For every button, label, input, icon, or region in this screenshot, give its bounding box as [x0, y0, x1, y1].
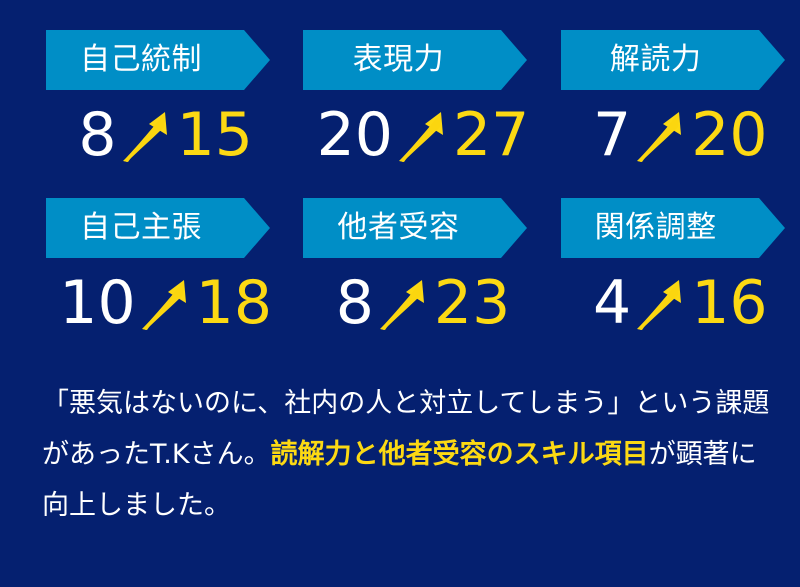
score-after: 23: [434, 273, 510, 333]
score-after: 18: [196, 273, 272, 333]
score-before: 20: [317, 105, 393, 165]
skill-banner: 解読力: [561, 30, 759, 90]
skill-banner: 表現力: [303, 30, 501, 90]
skill-scores: 10 18: [46, 264, 285, 342]
score-after: 27: [453, 105, 529, 165]
skill-card-self-control: 自己統制 8 15: [46, 30, 285, 174]
skill-card-expression: 表現力 20 27: [303, 30, 542, 174]
skill-banner-label: 表現力: [353, 45, 445, 75]
score-before: 8: [78, 105, 116, 165]
skill-improvement-infographic: 自己統制 8 15 表現力: [0, 0, 800, 587]
skill-scores: 8 15: [46, 96, 285, 174]
up-arrow-icon: [119, 104, 175, 166]
up-arrow-icon: [376, 272, 432, 334]
score-before: 10: [59, 273, 135, 333]
skill-card-relationship: 関係調整 4 16: [561, 198, 800, 342]
score-after: 16: [691, 273, 767, 333]
skill-scores: 20 27: [303, 96, 542, 174]
skill-banner-label: 解読力: [610, 45, 702, 75]
skill-card-acceptance: 他者受容 8 23: [303, 198, 542, 342]
score-before: 4: [593, 273, 631, 333]
up-arrow-icon: [633, 104, 689, 166]
skill-banner-label: 自己統制: [80, 45, 202, 75]
skill-banner: 自己主張: [46, 198, 244, 258]
skill-card-comprehension: 解読力 7 20: [561, 30, 800, 174]
skill-card-assertion: 自己主張 10 18: [46, 198, 285, 342]
up-arrow-icon: [395, 104, 451, 166]
up-arrow-icon: [138, 272, 194, 334]
skill-banner-label: 関係調整: [595, 213, 717, 243]
skill-scores: 4 16: [561, 264, 800, 342]
score-after: 15: [177, 105, 253, 165]
score-before: 8: [336, 273, 374, 333]
up-arrow-icon: [633, 272, 689, 334]
score-before: 7: [593, 105, 631, 165]
skill-row-2: 自己主張 10 18 他者受容: [0, 198, 800, 342]
skill-banner-label: 他者受容: [337, 213, 459, 243]
skill-grid: 自己統制 8 15 表現力: [0, 0, 800, 360]
testimonial-highlight: 読解力と他者受容のスキル項目: [271, 439, 649, 470]
testimonial-text: 「悪気はないのに、社内の人と対立してしまう」という課題があったT.Kさん。読解力…: [42, 378, 772, 531]
skill-scores: 8 23: [303, 264, 542, 342]
skill-banner: 関係調整: [561, 198, 759, 258]
skill-banner: 他者受容: [303, 198, 501, 258]
skill-banner: 自己統制: [46, 30, 244, 90]
skill-row-1: 自己統制 8 15 表現力: [0, 30, 800, 174]
skill-scores: 7 20: [561, 96, 800, 174]
score-after: 20: [691, 105, 767, 165]
skill-banner-label: 自己主張: [80, 213, 202, 243]
testimonial-paragraph: 「悪気はないのに、社内の人と対立してしまう」という課題があったT.Kさん。読解力…: [42, 378, 772, 531]
